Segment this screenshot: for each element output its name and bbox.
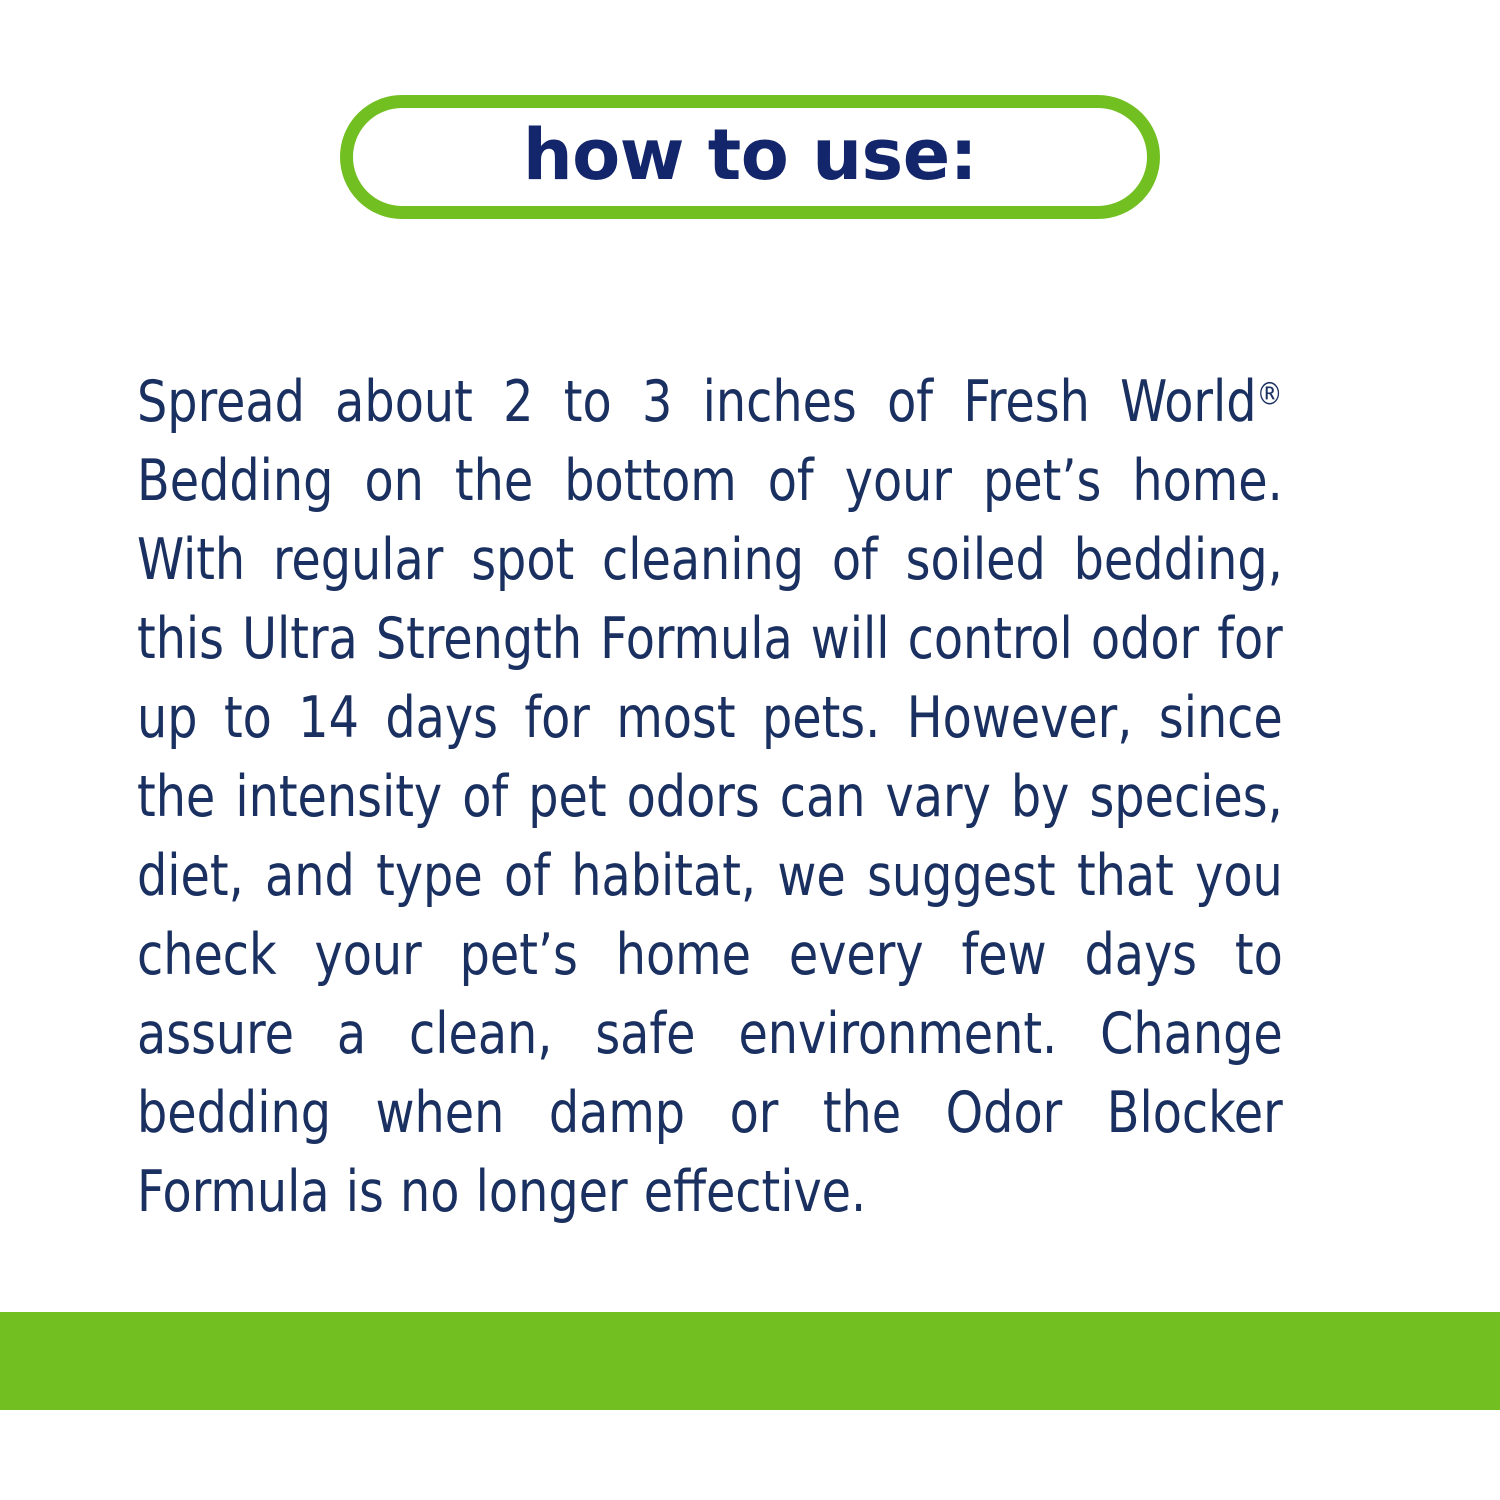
page-title: how to use: (523, 120, 977, 194)
footer-accent-bar (0, 1312, 1500, 1410)
instructions-text-after-trademark: Bedding on the bottom of your pet’s home… (137, 448, 1283, 1225)
footer-white-margin (0, 1410, 1500, 1500)
instructions-text-before-trademark: Spread about 2 to 3 inches of Fresh Worl… (137, 369, 1257, 435)
instructions-block: Spread about 2 to 3 inches of Fresh Worl… (137, 363, 1283, 1232)
how-to-use-header-pill: how to use: (340, 95, 1160, 219)
instructions-paragraph: Spread about 2 to 3 inches of Fresh Worl… (137, 363, 1283, 1232)
registered-trademark-icon: ® (1257, 377, 1283, 413)
how-to-use-panel: how to use: Spread about 2 to 3 inches o… (0, 0, 1500, 1500)
